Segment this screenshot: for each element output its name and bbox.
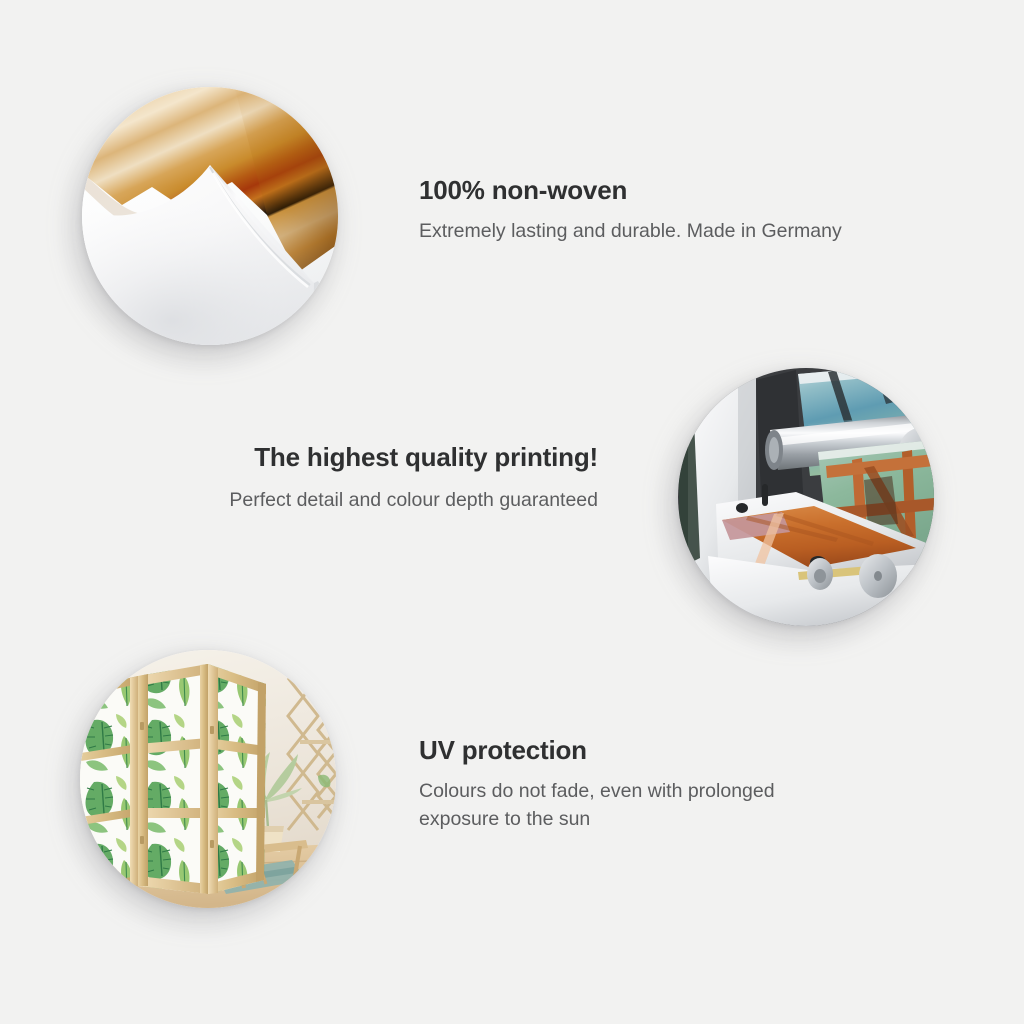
folding-room-divider: [80, 664, 266, 896]
feature-title-printing: The highest quality printing!: [198, 443, 598, 473]
feature-stage: 100% non-woven Extremely lasting and dur…: [0, 0, 1024, 1024]
feature-description-printing: Perfect detail and colour depth guarante…: [198, 487, 598, 515]
circle-mask: [82, 87, 338, 345]
divider-hinge-lower: [140, 836, 144, 844]
divider-hinge-right-lower: [210, 840, 214, 848]
feature-title-uv-protection: UV protection: [419, 736, 819, 766]
divider-panel-right: [208, 664, 266, 894]
feature-text-non-woven: 100% non-woven Extremely lasting and dur…: [419, 176, 859, 246]
divider-panel-middle: [138, 664, 208, 894]
circle-mask: [678, 368, 934, 626]
wallpaper-printing-machine-photo: [678, 368, 934, 626]
feature-text-uv-protection: UV protection Colours do not fade, even …: [419, 736, 819, 833]
divider-hinge-upper: [140, 722, 144, 730]
feature-description-non-woven: Extremely lasting and durable. Made in G…: [419, 218, 859, 246]
machine-wheel-right: [859, 554, 897, 598]
railing-mesh-detail: [864, 476, 898, 526]
paper-inner-shading: [82, 177, 338, 345]
divider-hinge-right-upper: [210, 726, 214, 734]
peeling-wallpaper-corner-photo: [82, 87, 338, 345]
tropical-room-divider-photo: [80, 650, 336, 908]
printing-machine-illustration: [678, 368, 934, 626]
room-divider-illustration: [80, 650, 336, 908]
divider-panel-left: [80, 676, 138, 896]
feature-description-uv-protection: Colours do not fade, even with prolonged…: [419, 778, 819, 833]
circle-mask: [80, 650, 336, 908]
water-highlight-streak: [884, 368, 910, 382]
feature-text-printing: The highest quality printing! Perfect de…: [198, 443, 598, 515]
feature-title-non-woven: 100% non-woven: [419, 176, 859, 206]
peeling-wallpaper-illustration: [82, 87, 338, 345]
